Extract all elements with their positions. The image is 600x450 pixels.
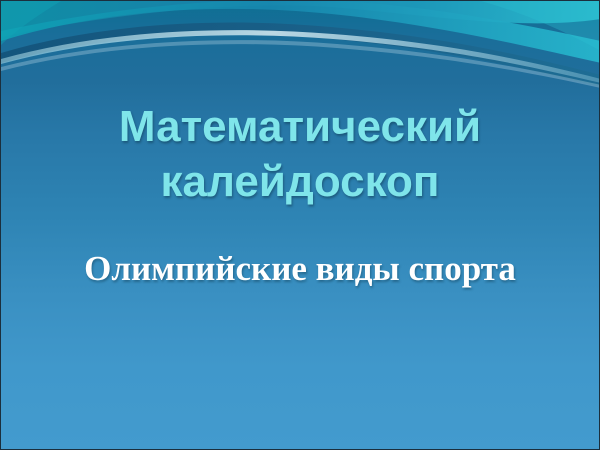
title-slide: Математический калейдоскоп Олимпийские в… (0, 0, 600, 450)
slide-subtitle: Олимпийские виды спорта (1, 249, 599, 289)
slide-content: Математический калейдоскоп Олимпийские в… (1, 1, 599, 449)
page-title: Математический калейдоскоп (1, 99, 599, 209)
